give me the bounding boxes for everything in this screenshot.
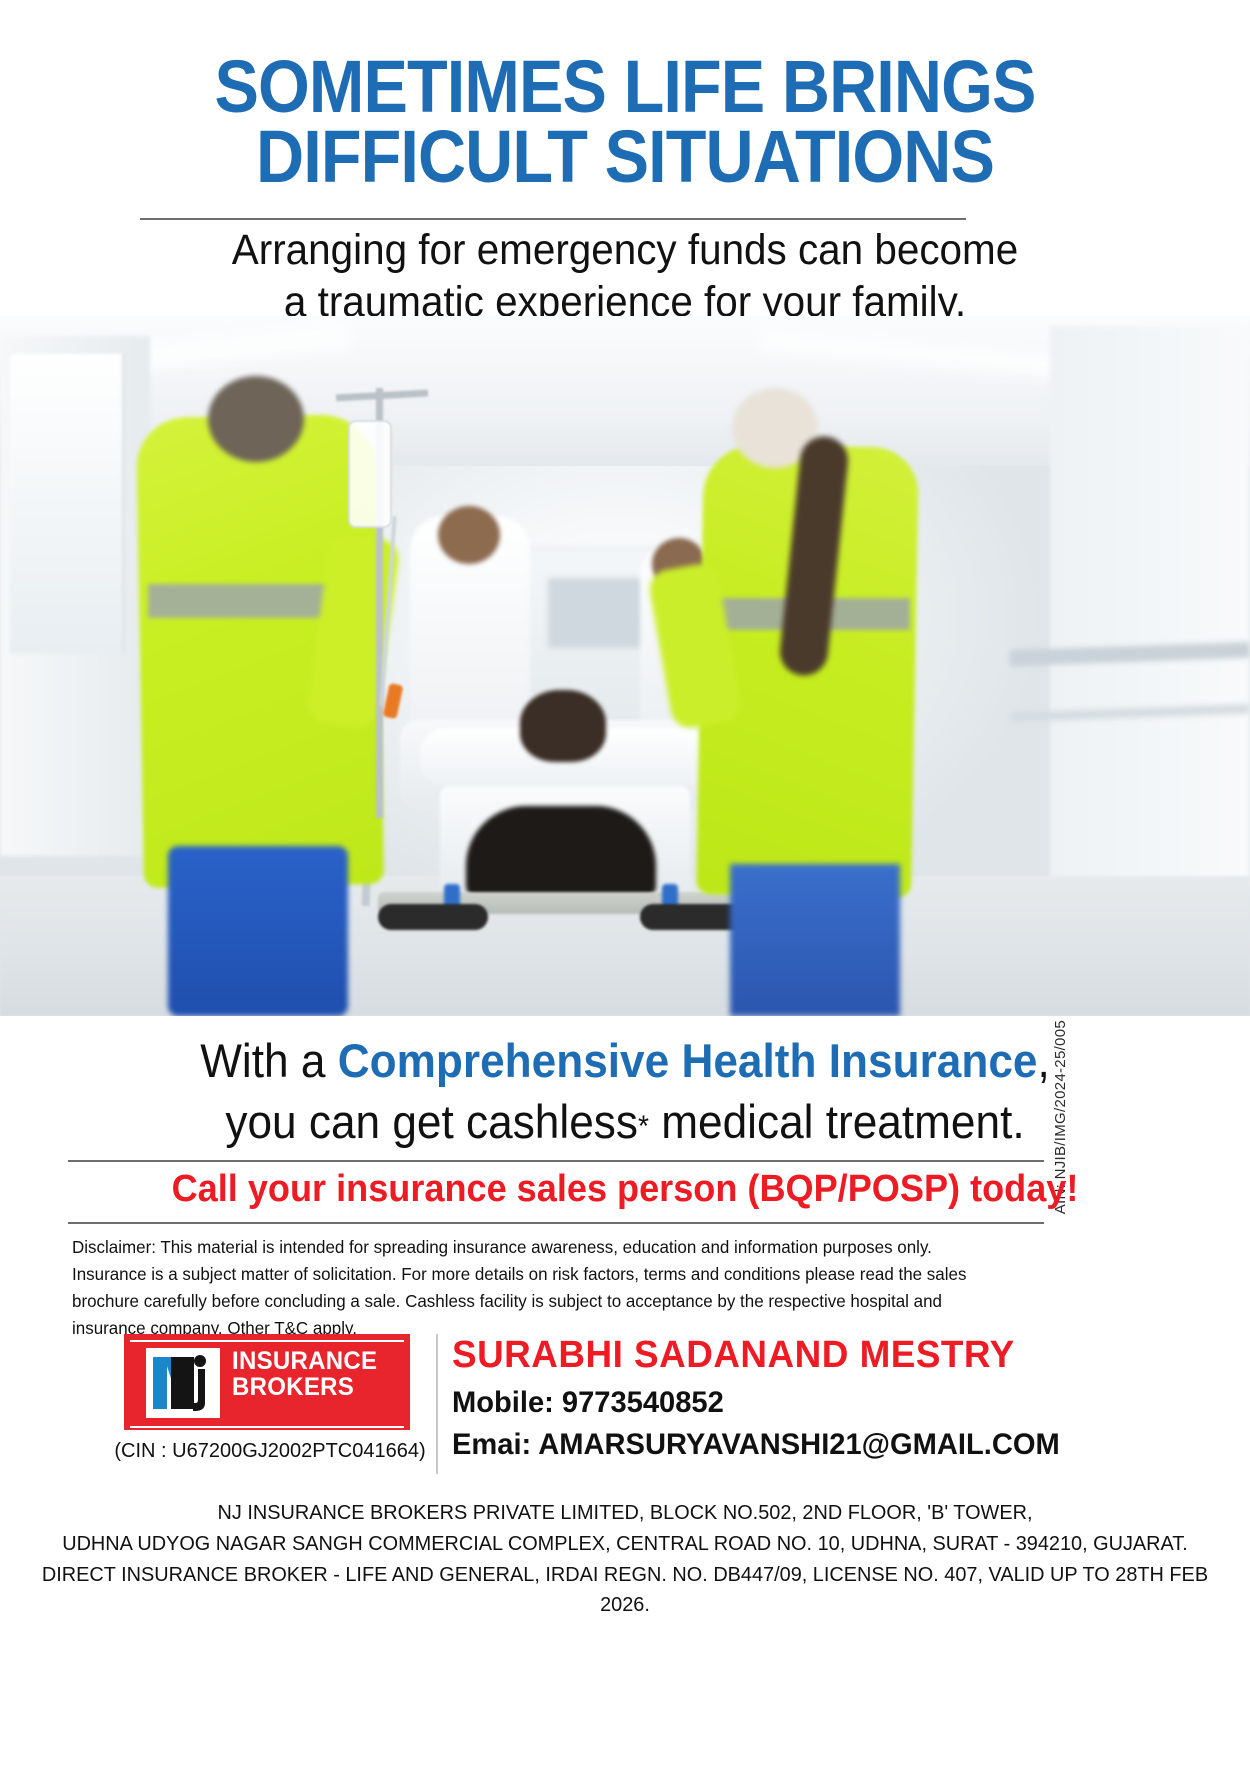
value-highlight: Comprehensive Health Insurance — [338, 1034, 1038, 1087]
company-address: NJ INSURANCE BROKERS PRIVATE LIMITED, BL… — [19, 1498, 1232, 1621]
nj-logo-word-1: INSURANCE — [232, 1348, 395, 1374]
page-title: SOMETIMES LIFE BRINGS DIFFICULT SITUATIO… — [63, 52, 1188, 193]
paramedic-left-head — [208, 376, 304, 462]
agent-mobile[interactable]: Mobile: 9773540852 — [452, 1386, 1053, 1420]
paramedic-left-legs — [168, 846, 348, 1016]
value-line2-b: medical treatment. — [649, 1095, 1025, 1148]
cta-divider-bottom — [68, 1222, 1044, 1224]
corridor-wall-right — [1050, 326, 1250, 886]
logo-contact-divider — [436, 1334, 438, 1474]
value-proposition: With a Comprehensive Health Insurance, y… — [38, 1030, 1213, 1152]
headline-divider — [140, 218, 966, 220]
corridor-window-left — [10, 354, 125, 654]
value-proposition-line-2: you can get cashless* medical treatment. — [38, 1091, 1213, 1152]
patient-body — [466, 806, 656, 898]
headline-line-2: DIFFICULT SITUATIONS — [63, 122, 1188, 192]
stretcher-handle-left — [378, 904, 488, 930]
subheading-line-1: Arranging for emergency funds can become — [38, 224, 1213, 276]
cashless-asterisk: * — [638, 1110, 649, 1143]
patient-head — [520, 690, 606, 762]
nurse-left-head — [438, 506, 500, 564]
disclaimer-text: Disclaimer: This material is intended fo… — [72, 1234, 1011, 1343]
value-suffix: , — [1037, 1034, 1049, 1087]
nj-logo-wordmark: INSURANCE BROKERS — [232, 1348, 395, 1400]
nj-logo-mark-canvas — [149, 1351, 217, 1415]
subheading: Arranging for emergency funds can become… — [38, 224, 1213, 329]
value-prefix: With a — [200, 1034, 337, 1087]
agent-email[interactable]: Emai: AMARSURYAVANSHI21@GMAIL.COM — [452, 1428, 1073, 1462]
paramedic-right-legs — [730, 864, 900, 1016]
hero-photo — [0, 316, 1250, 1016]
value-line2-a: you can get cashless — [225, 1095, 638, 1148]
agent-name: SURABHI SADANAND MESTRY — [452, 1334, 1053, 1377]
company-address-line-2: UDHNA UDYOG NAGAR SANGH COMMERCIAL COMPL… — [19, 1529, 1232, 1560]
company-address-line-3: DIRECT INSURANCE BROKER - LIFE AND GENER… — [19, 1560, 1232, 1622]
nj-logo-word-2: BROKERS — [232, 1374, 395, 1400]
call-to-action: Call your insurance sales person (BQP/PO… — [31, 1168, 1219, 1211]
cin-number: (CIN : U67200GJ2002PTC041664) — [110, 1440, 430, 1463]
poster-root: SOMETIMES LIFE BRINGS DIFFICULT SITUATIO… — [0, 0, 1250, 1780]
cta-divider-top — [68, 1160, 1044, 1162]
iv-bag-icon — [348, 420, 392, 528]
nj-logo-mark — [146, 1348, 220, 1418]
value-proposition-line-1: With a Comprehensive Health Insurance, — [38, 1030, 1213, 1091]
company-address-line-1: NJ INSURANCE BROKERS PRIVATE LIMITED, BL… — [19, 1498, 1232, 1529]
nj-monogram-icon — [149, 1351, 217, 1415]
